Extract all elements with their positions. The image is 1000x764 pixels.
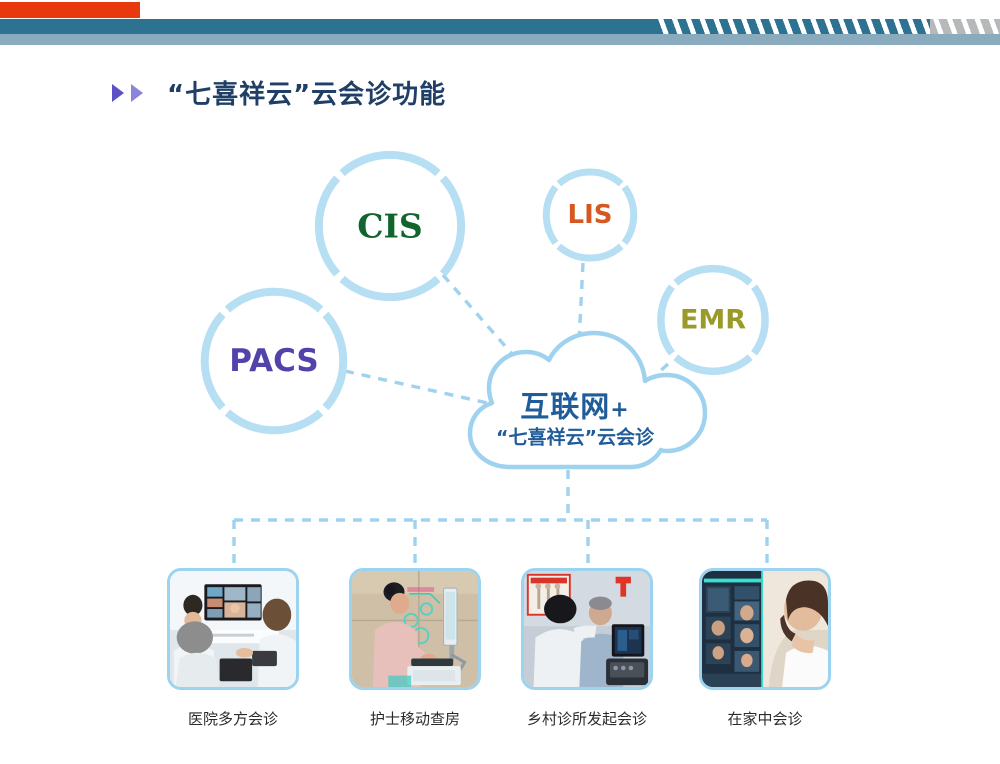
village-clinic-consultation-photo xyxy=(524,571,650,687)
diagonal-stripes-teal xyxy=(655,19,930,34)
cloud-center-text: 互联网+ “七喜祥云”云会诊 xyxy=(496,392,654,449)
triangle-right-icon xyxy=(112,84,124,102)
page-title-row: “七喜祥云”云会诊功能 xyxy=(112,74,446,111)
top-decoration-bar xyxy=(0,0,1000,46)
red-accent-bar xyxy=(0,2,140,18)
cloud-title-plus: + xyxy=(610,398,629,423)
node-label-lis: LIS xyxy=(568,200,613,230)
scenario-card[interactable] xyxy=(167,568,299,690)
node-label-pacs: PACS xyxy=(229,343,319,379)
slate-underband xyxy=(0,34,1000,45)
connector-pacs-to-cloud xyxy=(345,371,492,404)
nurse-mobile-ward-round-photo xyxy=(352,571,478,687)
hospital-multiparty-consultation-photo xyxy=(170,571,296,687)
diagonal-stripes-gray xyxy=(930,19,1000,34)
home-consultation-photo xyxy=(702,571,828,687)
connector-lis-to-cloud xyxy=(578,263,583,362)
connector-cis-to-cloud xyxy=(443,275,533,378)
scenario-card[interactable] xyxy=(699,568,831,690)
cloud-title-line: 互联网+ xyxy=(496,392,654,424)
scenario-card[interactable] xyxy=(521,568,653,690)
cloud-consultation-diagram xyxy=(0,0,1000,764)
cloud-subtitle-line: “七喜祥云”云会诊 xyxy=(496,428,654,449)
card-caption: 在家中会诊 xyxy=(655,708,875,729)
cloud-title-main: 互联网 xyxy=(520,390,610,424)
node-label-emr: EMR xyxy=(680,305,746,336)
page-title: “七喜祥云”云会诊功能 xyxy=(167,74,446,111)
triangle-right-icon xyxy=(131,84,143,102)
node-label-cis: CIS xyxy=(357,207,423,246)
scenario-card[interactable] xyxy=(349,568,481,690)
